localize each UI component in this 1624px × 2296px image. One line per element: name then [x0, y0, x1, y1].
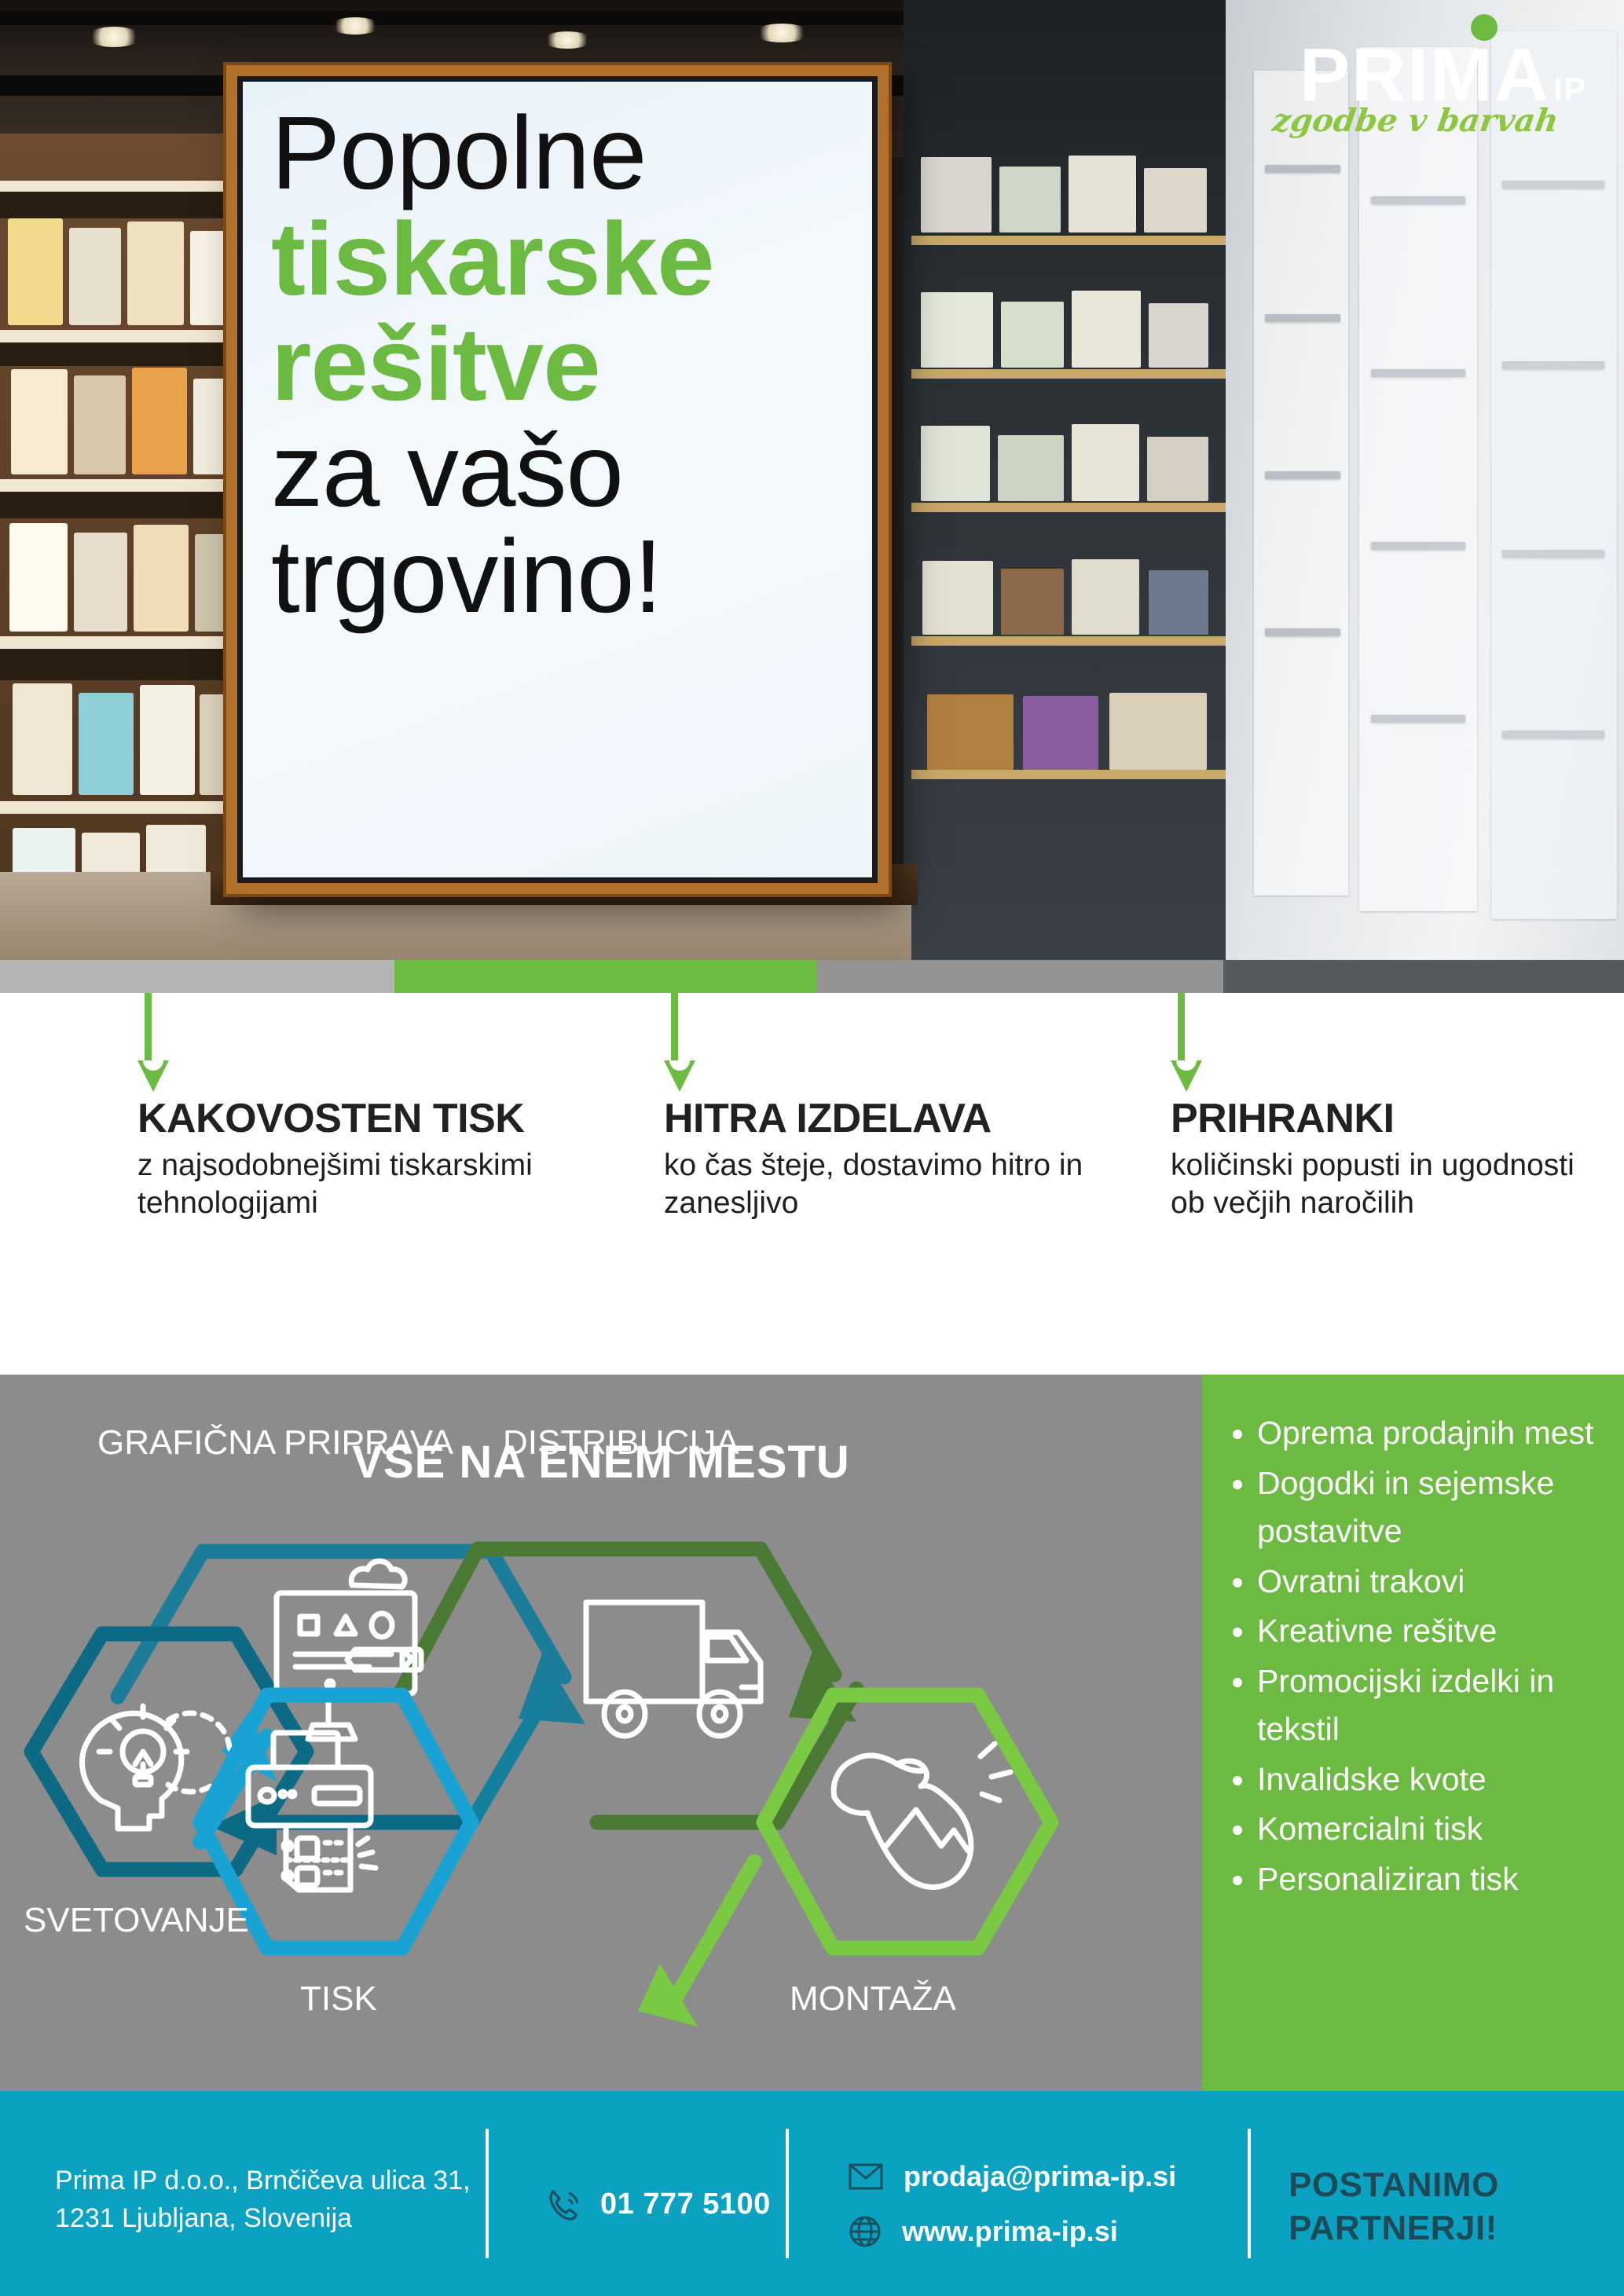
hexagon-montaza	[764, 1695, 1051, 1948]
hexagon-flow-svg	[0, 1492, 1202, 2074]
down-arrow-icon	[137, 993, 158, 1092]
footer-divider	[1248, 2129, 1251, 2258]
list-item: Komercialni tisk	[1257, 1805, 1600, 1854]
band-segment-gray-light	[0, 960, 394, 993]
footer-divider	[786, 2129, 789, 2258]
cta-line-2: PARTNERJI!	[1289, 2206, 1587, 2250]
feature-column-prihranki: PRIHRANKI količinski popusti in ugodnost…	[1171, 993, 1579, 1221]
down-arrow-icon	[664, 993, 684, 1092]
connector-arrow-4	[399, 1549, 856, 1722]
ceiling-lamp	[542, 31, 592, 49]
feature-title: KAKOVOSTEN TISK	[137, 1097, 640, 1141]
process-diagram: SVETOVANJE GRAFIČNA PRIPRAVA TISK DISTRI…	[0, 1492, 1202, 2074]
hexagon-distribucija	[586, 1602, 761, 1736]
band-segment-gray-dark	[1223, 960, 1624, 993]
company-address: Prima IP d.o.o., Brnčičeva ulica 31, 123…	[55, 2162, 495, 2238]
hero-headline: Popolne tiskarske rešitve za vašo trgovi…	[271, 101, 821, 629]
feature-title: HITRA IZDELAVA	[664, 1097, 1167, 1141]
ceiling-lamp	[86, 27, 141, 47]
brand-logo: PRIMA IP zgodbe v barvah	[1273, 38, 1586, 139]
process-label-svetovanje: SVETOVANJE	[24, 1901, 249, 1940]
phone-number: 01 777 5100	[600, 2188, 771, 2221]
footer-contact-bar: Prima IP d.o.o., Brnčičeva ulica 31, 123…	[0, 2091, 1624, 2296]
feature-column-kakovosten-tisk: KAKOVOSTEN TISK z najsodobnejšimi tiskar…	[137, 993, 640, 1221]
band-segment-green	[394, 960, 817, 993]
process-label-montaza: MONTAŽA	[790, 1979, 956, 2019]
globe-icon	[849, 2215, 882, 2248]
process-label-distribucija: DISTRIBUCIJA	[503, 1423, 739, 1463]
email-contact[interactable]: prodaja@prima-ip.si	[849, 2160, 1176, 2193]
logo-dot-icon	[1471, 14, 1498, 41]
ceiling-lamp	[330, 17, 380, 35]
hero-section: Popolne tiskarske rešitve za vašo trgovi…	[0, 0, 1624, 960]
headline-line-3: rešitve	[271, 312, 821, 418]
cta-line-1: POSTANIMO	[1289, 2163, 1587, 2206]
address-line-1: Prima IP d.o.o., Brnčičeva ulica 31,	[55, 2162, 495, 2199]
cta-postanimo-partnerji: POSTANIMO PARTNERJI!	[1289, 2163, 1587, 2250]
feature-subtitle: količinski popusti in ugodnosti ob večji…	[1171, 1147, 1579, 1221]
services-list: Oprema prodajnih mest Dogodki in sejemsk…	[1230, 1409, 1600, 1905]
website-url: www.prima-ip.si	[902, 2215, 1118, 2248]
color-band	[0, 960, 1624, 993]
headline-line-4: za vašo	[271, 418, 821, 524]
footer-divider	[486, 2129, 489, 2258]
address-line-2: 1231 Ljubljana, Slovenija	[55, 2199, 495, 2237]
services-panel: Oprema prodajnih mest Dogodki in sejemsk…	[1202, 1375, 1624, 2091]
process-label-tisk: TISK	[300, 1979, 377, 2019]
features-section: KAKOVOSTEN TISK z najsodobnejšimi tiskar…	[0, 993, 1624, 1375]
headline-line-1: Popolne	[271, 101, 821, 207]
process-label-graficna-priprava: GRAFIČNA PRIPRAVA	[97, 1423, 453, 1463]
down-arrow-icon	[1171, 993, 1191, 1092]
feature-column-hitra-izdelava: HITRA IZDELAVA ko čas šteje, dostavimo h…	[664, 993, 1167, 1221]
list-item: Dogodki in sejemske postavitve	[1257, 1459, 1600, 1556]
left-shelving	[0, 134, 259, 960]
list-item: Kreativne rešitve	[1257, 1607, 1600, 1656]
logo-tagline: zgodbe v barvah	[1270, 102, 1561, 139]
headline-line-5: trgovino!	[271, 524, 821, 630]
headline-line-2: tiskarske	[271, 207, 821, 313]
feature-subtitle: z najsodobnejšimi tiskarskimi tehnologij…	[137, 1147, 640, 1221]
band-segment-gray-mid	[817, 960, 1223, 993]
email-address: prodaja@prima-ip.si	[904, 2160, 1176, 2193]
process-section: VSE NA ENEM MESTU	[0, 1375, 1624, 2091]
ceiling-lamp	[754, 24, 809, 42]
website-contact[interactable]: www.prima-ip.si	[849, 2215, 1118, 2248]
monitor-design-pencil-icon	[277, 1562, 421, 1740]
feature-subtitle: ko čas šteje, dostavimo hitro in zaneslj…	[664, 1147, 1167, 1221]
flyer-page: Popolne tiskarske rešitve za vašo trgovi…	[0, 0, 1624, 2296]
list-item: Personaliziran tisk	[1257, 1855, 1600, 1904]
connector-arrow-3	[471, 1689, 550, 1822]
list-item: Ovratni trakovi	[1257, 1558, 1600, 1606]
phone-contact[interactable]: 01 777 5100	[542, 2184, 771, 2225]
hand-applying-sticker-icon	[834, 1744, 1010, 1887]
envelope-icon	[849, 2162, 883, 2191]
list-item: Promocijski izdelki in tekstil	[1257, 1657, 1600, 1754]
feature-title: PRIHRANKI	[1171, 1097, 1579, 1141]
phone-icon	[542, 2184, 583, 2225]
delivery-truck-icon	[586, 1602, 761, 1736]
list-item: Oprema prodajnih mest	[1257, 1409, 1600, 1458]
list-item: Invalidske kvote	[1257, 1756, 1600, 1804]
